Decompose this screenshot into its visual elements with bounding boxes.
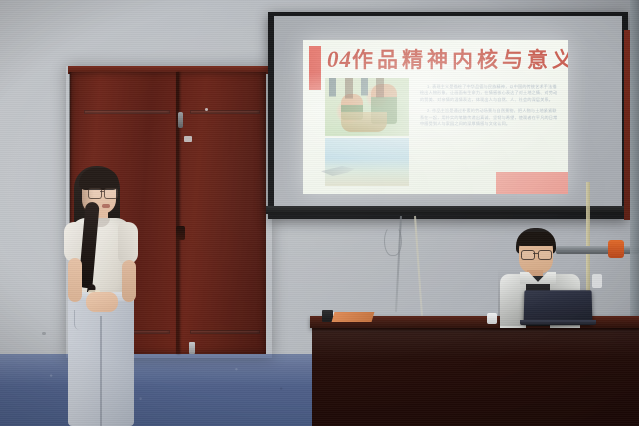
presenter-mouth xyxy=(102,204,110,208)
presenter-forearm-left xyxy=(68,258,82,302)
door-panel-groove xyxy=(190,330,260,334)
door-handle[interactable] xyxy=(178,112,183,128)
presenter-glasses xyxy=(88,188,117,197)
photo-sky-figures xyxy=(325,138,409,186)
desk-cup[interactable] xyxy=(487,313,497,324)
door-peephole xyxy=(205,108,208,111)
door-panel-groove xyxy=(84,110,170,114)
operator-glasses xyxy=(521,250,551,258)
wall-socket[interactable] xyxy=(592,274,602,288)
presenter-trouser-pocket xyxy=(74,310,91,330)
projector-screen-bottom-rail xyxy=(266,206,630,214)
glasses-lens-right xyxy=(538,250,552,260)
projected-slide: 04作品精神内核与意义 1. 表现主义是描绘了中华品德与民族精神，以中国的传统艺… xyxy=(303,40,568,194)
presenter-fringe xyxy=(79,168,119,190)
pipe-valve xyxy=(608,240,624,258)
slide-body-text: 1. 表现主义是描绘了中华品德与民族精神，以中国的传统艺术手法描绘出人物形象，让… xyxy=(420,84,558,132)
desk-folder[interactable] xyxy=(332,312,375,322)
presenter-forearm-right xyxy=(122,260,136,302)
photo-sky-figure-silhouettes xyxy=(325,78,395,106)
presenter-hands xyxy=(86,292,118,312)
slide-accent-bar xyxy=(309,46,321,90)
wall-scuff xyxy=(42,332,46,335)
laptop-base[interactable] xyxy=(520,320,596,325)
presenter-trouser-seam xyxy=(100,316,102,426)
lectern-sheen xyxy=(312,330,639,426)
person-presenter xyxy=(52,166,148,426)
door-latch[interactable] xyxy=(184,136,192,142)
glasses-lens-right xyxy=(104,188,118,199)
slide-accent-block xyxy=(496,172,568,194)
slide-title: 04作品精神内核与意义 xyxy=(327,44,565,76)
door-panel-groove xyxy=(190,110,260,114)
operator-fringe xyxy=(517,232,555,246)
door-stop xyxy=(189,342,195,354)
slide-title-text: 作品精神内核与意义 xyxy=(352,48,568,72)
slide-paragraph-2: 2. 作品主旨是通过朴素的劳动场景与自然景物，把人物与土地紧紧联系在一起，用朴实… xyxy=(420,108,558,127)
presenter-sleeve-right xyxy=(118,222,138,264)
glasses-lens-left xyxy=(88,188,102,199)
slide-title-number: 04 xyxy=(327,47,352,72)
classroom-scene: 04作品精神内核与意义 1. 表现主义是描绘了中华品德与民族精神，以中国的传统艺… xyxy=(0,0,639,426)
slide-paragraph-1: 1. 表现主义是描绘了中华品德与民族精神，以中国的传统艺术手法描绘出人物形象，让… xyxy=(420,84,558,103)
glasses-lens-left xyxy=(521,250,535,260)
door-lock[interactable] xyxy=(176,226,185,240)
photo-harvest-basket xyxy=(341,112,387,132)
